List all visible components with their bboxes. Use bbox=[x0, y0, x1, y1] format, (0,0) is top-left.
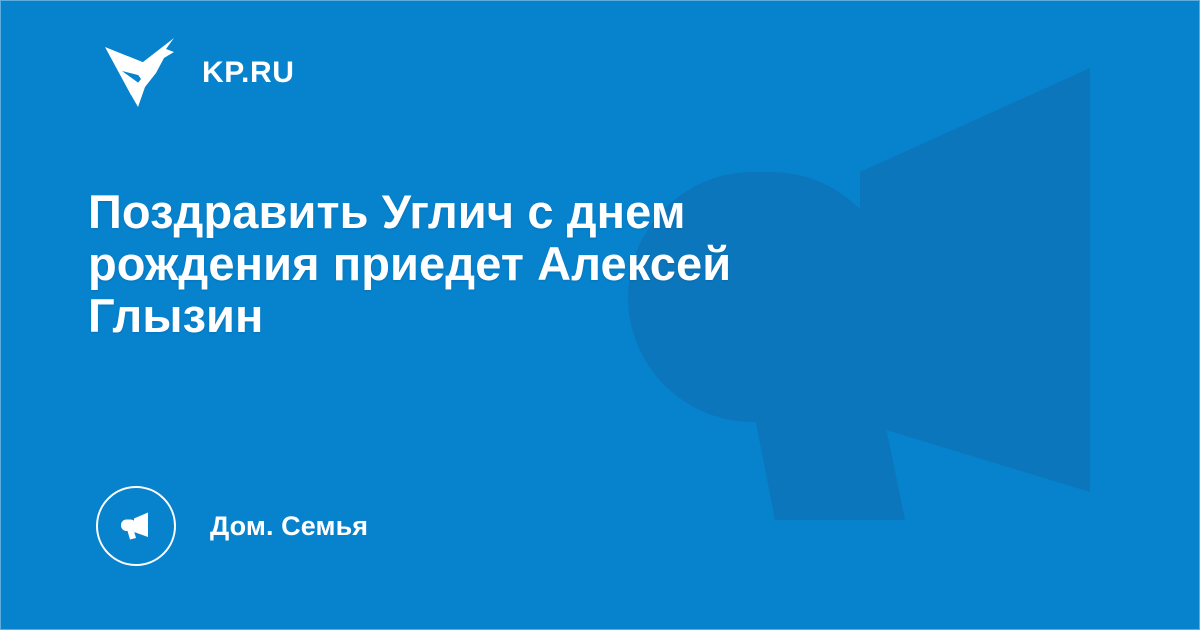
share-card: KP.RU Поздравить Углич с днем рождения п… bbox=[0, 0, 1200, 630]
category-label: Дом. Семья bbox=[210, 513, 368, 540]
page-title: Поздравить Углич с днем рождения приедет… bbox=[88, 186, 918, 342]
category-badge[interactable]: Дом. Семья bbox=[96, 486, 368, 566]
brand-name: KP.RU bbox=[202, 58, 294, 88]
swallow-bird-icon bbox=[104, 35, 180, 107]
megaphone-icon bbox=[96, 486, 176, 566]
brand-logo[interactable]: KP.RU bbox=[104, 34, 294, 108]
